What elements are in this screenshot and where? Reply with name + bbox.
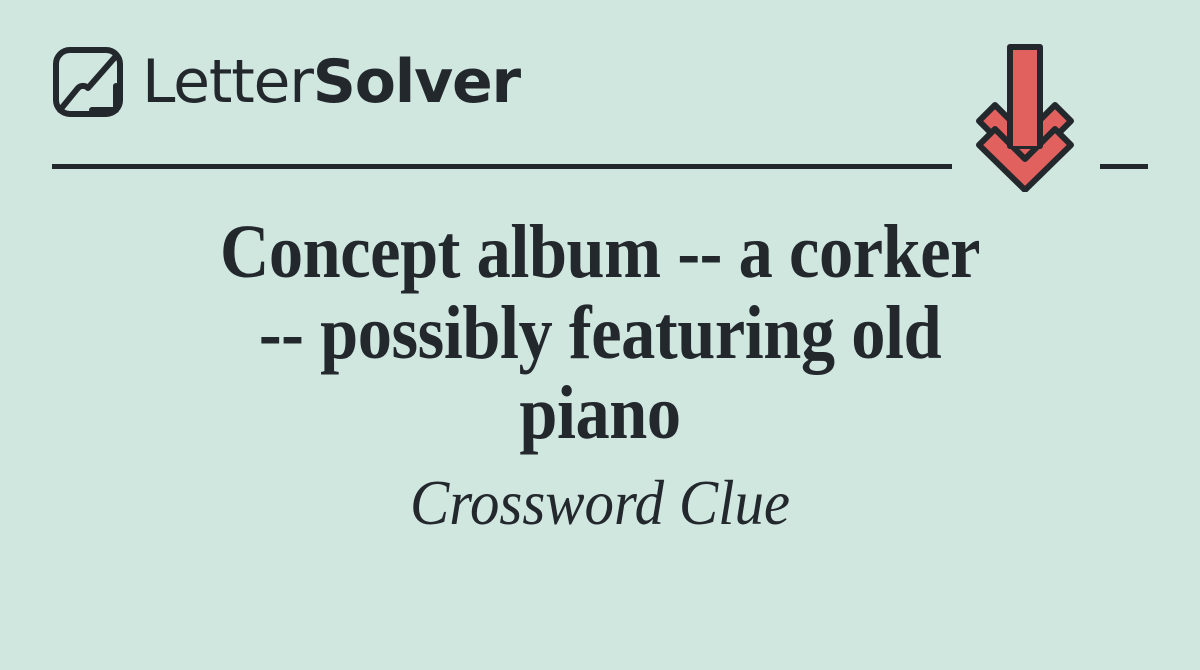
site-header: Letter Solver: [52, 40, 520, 124]
brand-name-light: Letter: [142, 52, 313, 112]
clue-title: Concept album -- a corker-- possibly fea…: [60, 212, 1140, 454]
clue-title-line-2: -- possibly featuring old: [259, 291, 941, 375]
crossword-clue-card: Letter Solver Concept album -- a corker-…: [0, 0, 1200, 670]
clue-title-line-1: Concept album -- a corker: [220, 210, 980, 294]
brand-name-bold: Solver: [313, 52, 520, 112]
clue-title-line-3: piano: [519, 371, 680, 455]
clue-subtitle: Crossword Clue: [48, 468, 1152, 538]
divider-rule-left: [52, 164, 952, 169]
divider-rule-right: [1100, 164, 1148, 169]
clue-block: Concept album -- a corker-- possibly fea…: [0, 212, 1200, 538]
lettersolver-logo-icon: [52, 46, 142, 118]
brand-wordmark[interactable]: Letter Solver: [142, 52, 520, 112]
